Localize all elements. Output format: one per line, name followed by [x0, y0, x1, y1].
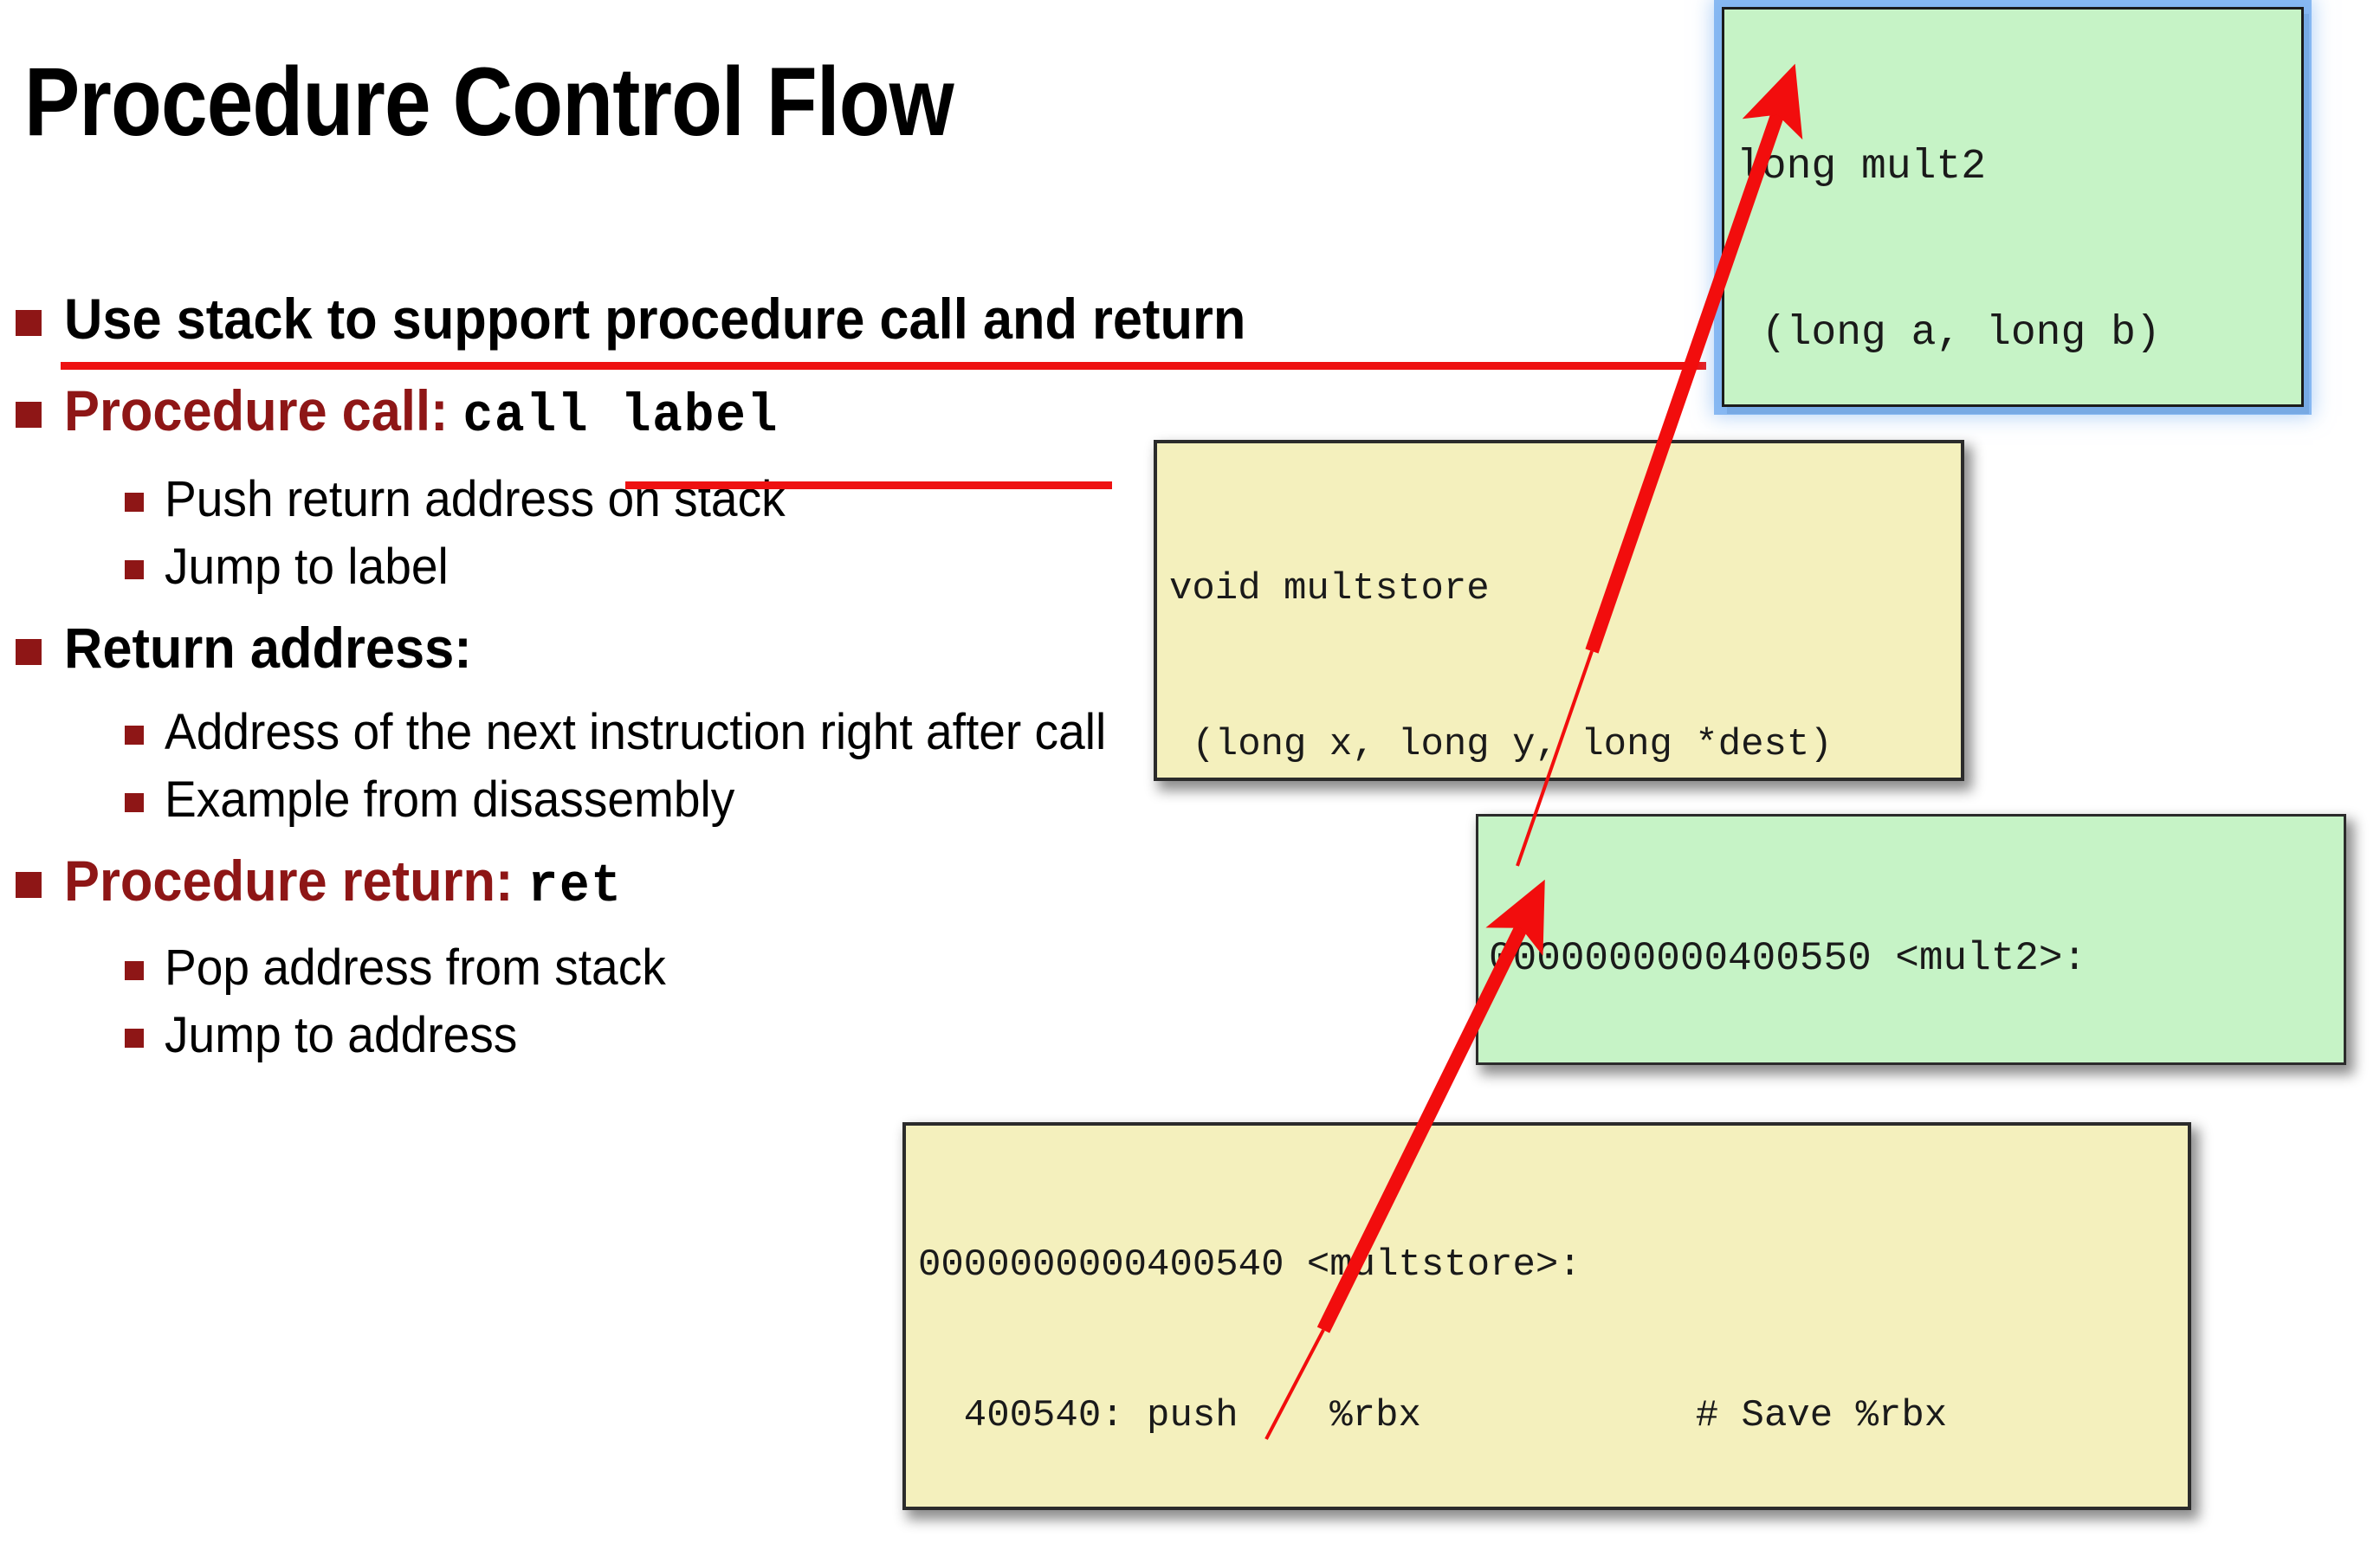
bullet-square-icon: [16, 872, 42, 898]
multstore-disassembly-box: 0000000000400540 <multstore>: 400540: pu…: [902, 1122, 2191, 1510]
bullet-text: Return address:: [64, 615, 472, 682]
bullet-item-jump-to-address: Jump to address: [125, 1006, 1704, 1065]
bullet-text: Example from disassembly: [165, 771, 734, 830]
code-line: 400540: push %rbx # Save %rbx: [918, 1391, 2188, 1441]
code-line: (long a, long b): [1736, 306, 2301, 361]
bullet-text-mono: call label: [463, 385, 779, 447]
bullet-item-pop-address: Pop address from stack: [125, 939, 1704, 997]
page-title: Procedure Control Flow: [24, 54, 954, 151]
mult2-disassembly-box: 0000000000400550 <mult2>: 400550: mov %r…: [1476, 814, 2346, 1065]
bullet-text-prefix: Procedure return:: [64, 849, 527, 913]
multstore-source-box: void multstore (long x, long y, long *de…: [1154, 440, 1964, 781]
bullet-square-icon: [16, 639, 42, 665]
bullet-text: Push return address on stack: [165, 470, 786, 529]
bullet-text: Address of the next instruction right af…: [165, 703, 1106, 762]
bullet-square-icon: [125, 560, 144, 579]
bullet-square-icon: [125, 493, 144, 512]
mult2-source-box: long mult2 (long a, long b) { long s = a…: [1722, 7, 2304, 407]
bullet-text: Jump to address: [165, 1006, 517, 1065]
bullet-square-icon: [125, 726, 144, 745]
bullet-square-icon: [125, 1029, 144, 1048]
code-line: (long x, long y, long *dest): [1169, 719, 1961, 771]
bullet-item-procedure-call: Procedure call: call label: [16, 378, 1704, 448]
bullet-text-prefix: Procedure call:: [64, 378, 463, 442]
bullet-item-use-stack: Use stack to support procedure call and …: [16, 286, 1704, 353]
bullet-square-icon: [125, 793, 144, 812]
underline-call-label: [625, 481, 1112, 489]
code-line: long mult2: [1736, 139, 2301, 195]
underline-use-stack: [61, 362, 1706, 370]
bullet-square-icon: [16, 310, 42, 336]
bullet-text: Pop address from stack: [165, 939, 666, 997]
bullet-item-procedure-return: Procedure return: ret: [16, 848, 1704, 918]
bullet-square-icon: [125, 961, 144, 980]
bullet-text: Jump to label: [165, 538, 449, 597]
bullet-square-icon: [16, 402, 42, 428]
bullet-text: Use stack to support procedure call and …: [64, 286, 1245, 353]
code-line: void multstore: [1169, 563, 1961, 615]
code-line: 0000000000400550 <mult2>:: [1489, 933, 2344, 985]
code-line: 0000000000400540 <multstore>:: [918, 1240, 2188, 1290]
bullet-text-mono: ret: [527, 855, 622, 917]
